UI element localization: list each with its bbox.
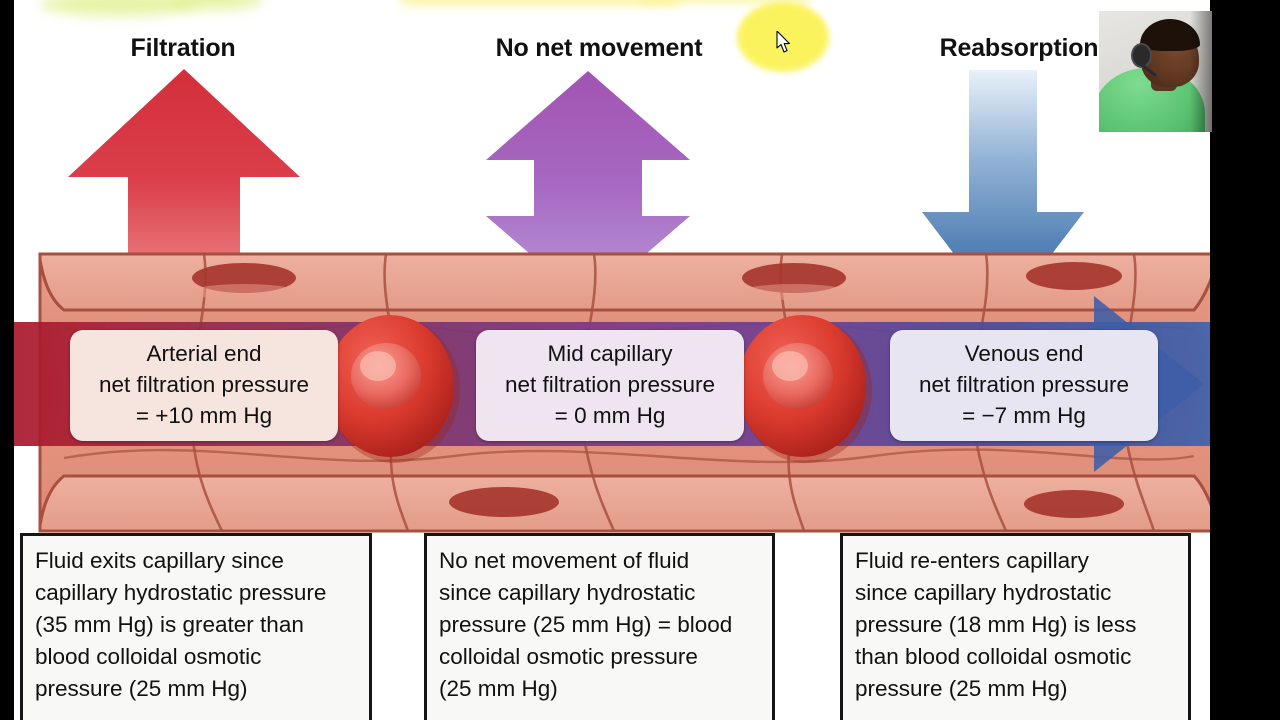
explanation-line: Fluid exits capillary since <box>35 545 358 577</box>
screen-root: Arterial end net filtration pressure = +… <box>0 0 1280 720</box>
explanation-line: Fluid re-enters capillary <box>855 545 1177 577</box>
label-arterial-end: Arterial end net filtration pressure = +… <box>70 330 338 441</box>
label-mid-capillary: Mid capillary net filtration pressure = … <box>476 330 744 441</box>
explanation-line: than blood colloidal osmotic <box>855 641 1177 673</box>
red-blood-cell <box>726 310 886 470</box>
explanation-line: pressure (25 mm Hg) <box>35 673 358 705</box>
label-line: = −7 mm Hg <box>902 400 1146 431</box>
explanation-line: pressure (25 mm Hg) = blood <box>439 609 761 641</box>
green-smudge-mid <box>168 0 263 10</box>
label-line: = +10 mm Hg <box>82 400 326 431</box>
explanation-line: (25 mm Hg) <box>439 673 761 705</box>
red-blood-cell <box>314 310 474 470</box>
label-line: Mid capillary <box>488 338 732 369</box>
video-content-area[interactable]: Arterial end net filtration pressure = +… <box>14 0 1210 720</box>
yellow-strip-top <box>400 0 680 6</box>
green-smudge-left <box>40 0 200 16</box>
label-line: Venous end <box>902 338 1146 369</box>
explanation-line: (35 mm Hg) is greater than <box>35 609 358 641</box>
mouse-cursor <box>776 31 792 53</box>
label-line: net filtration pressure <box>488 369 732 400</box>
label-line: = 0 mm Hg <box>488 400 732 431</box>
explanation-line: capillary hydrostatic pressure <box>35 577 358 609</box>
explanation-line: since capillary hydrostatic <box>439 577 761 609</box>
webcam-overlay[interactable] <box>1099 11 1212 132</box>
webcam-vignette <box>1190 11 1212 132</box>
label-line: Arterial end <box>82 338 326 369</box>
label-line: net filtration pressure <box>82 369 326 400</box>
explanation-box-reabsorption: Fluid re-enters capillary since capillar… <box>840 533 1191 720</box>
explanation-line: pressure (18 mm Hg) is less <box>855 609 1177 641</box>
explanation-box-filtration: Fluid exits capillary since capillary hy… <box>20 533 372 720</box>
explanation-line: No net movement of fluid <box>439 545 761 577</box>
label-line: net filtration pressure <box>902 369 1146 400</box>
explanation-line: blood colloidal osmotic <box>35 641 358 673</box>
explanation-line: since capillary hydrostatic <box>855 577 1177 609</box>
explanation-box-no-net-movement: No net movement of fluid since capillary… <box>424 533 775 720</box>
label-venous-end: Venous end net filtration pressure = −7 … <box>890 330 1158 441</box>
explanation-line: pressure (25 mm Hg) <box>855 673 1177 705</box>
explanation-line: colloidal osmotic pressure <box>439 641 761 673</box>
heading-no-net-movement: No net movement <box>454 34 744 63</box>
heading-filtration: Filtration <box>28 34 338 63</box>
